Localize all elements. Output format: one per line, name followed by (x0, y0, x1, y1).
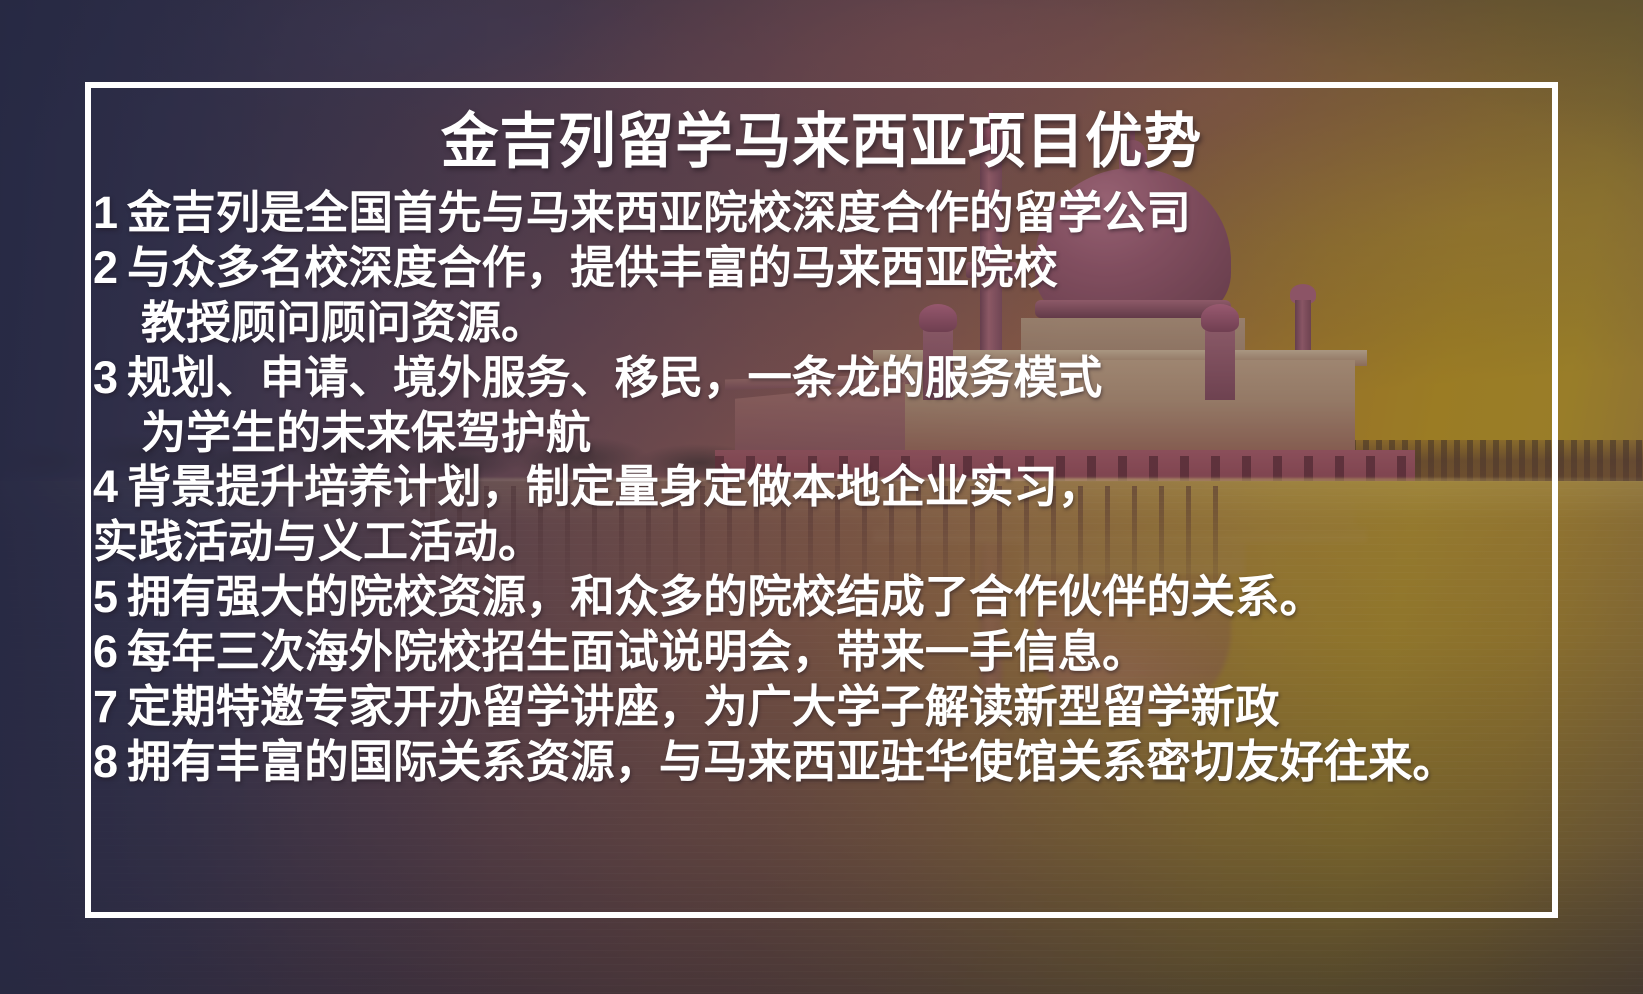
advantage-text: 定期特邀专家开办留学讲座，为广大学子解读新型留学新政 (127, 680, 1279, 735)
list-item: 5拥有强大的院校资源，和众多的院校结成了合作伙伴的关系。 (93, 570, 1550, 625)
advantage-row: 1金吉列是全国首先与马来西亚院校深度合作的留学公司 (93, 186, 1550, 241)
advantage-number: 4 (93, 460, 127, 515)
advantage-number: 5 (93, 570, 127, 625)
advantage-number: 8 (93, 735, 127, 790)
advantage-text: 拥有丰富的国际关系资源，与马来西亚驻华使馆关系密切友好往来。 (127, 735, 1457, 790)
advantage-row: 4背景提升培养计划，制定量身定做本地企业实习， (93, 460, 1550, 515)
advantage-row: 2与众多名校深度合作，提供丰富的马来西亚院校 (93, 241, 1550, 296)
list-item: 7定期特邀专家开办留学讲座，为广大学子解读新型留学新政 (93, 680, 1550, 735)
list-item: 2与众多名校深度合作，提供丰富的马来西亚院校教授顾问顾问资源。 (93, 241, 1550, 351)
advantage-text-continuation: 教授顾问顾问资源。 (93, 296, 1550, 351)
advantage-text-continuation: 为学生的未来保驾护航 (93, 406, 1550, 461)
advantage-text: 每年三次海外院校招生面试说明会，带来一手信息。 (127, 625, 1146, 680)
advantage-row: 8拥有丰富的国际关系资源，与马来西亚驻华使馆关系密切友好往来。 (93, 735, 1550, 790)
advantage-number: 2 (93, 241, 127, 296)
advantage-text: 与众多名校深度合作，提供丰富的马来西亚院校 (127, 241, 1058, 296)
advantage-number: 7 (93, 680, 127, 735)
advantage-row: 5拥有强大的院校资源，和众多的院校结成了合作伙伴的关系。 (93, 570, 1550, 625)
list-item: 4背景提升培养计划，制定量身定做本地企业实习，实践活动与义工活动。 (93, 460, 1550, 570)
advantage-text: 拥有强大的院校资源，和众多的院校结成了合作伙伴的关系。 (127, 570, 1324, 625)
advantage-row: 7定期特邀专家开办留学讲座，为广大学子解读新型留学新政 (93, 680, 1550, 735)
list-item: 3规划、申请、境外服务、移民，一条龙的服务模式为学生的未来保驾护航 (93, 351, 1550, 461)
list-item: 8拥有丰富的国际关系资源，与马来西亚驻华使馆关系密切友好往来。 (93, 735, 1550, 790)
advantage-row: 6每年三次海外院校招生面试说明会，带来一手信息。 (93, 625, 1550, 680)
advantage-row: 3规划、申请、境外服务、移民，一条龙的服务模式 (93, 351, 1550, 406)
advantage-text-continuation: 实践活动与义工活动。 (93, 515, 1550, 570)
list-item: 6每年三次海外院校招生面试说明会，带来一手信息。 (93, 625, 1550, 680)
advantage-text: 背景提升培养计划，制定量身定做本地企业实习， (127, 460, 1102, 515)
poster-content: 金吉列留学马来西亚项目优势 1金吉列是全国首先与马来西亚院校深度合作的留学公司2… (85, 82, 1558, 918)
advantage-number: 6 (93, 625, 127, 680)
page-title: 金吉列留学马来西亚项目优势 (122, 112, 1521, 172)
advantage-text: 规划、申请、境外服务、移民，一条龙的服务模式 (127, 351, 1102, 406)
advantage-number: 3 (93, 351, 127, 406)
list-item: 1金吉列是全国首先与马来西亚院校深度合作的留学公司 (93, 186, 1550, 241)
advantages-list: 1金吉列是全国首先与马来西亚院校深度合作的留学公司2与众多名校深度合作，提供丰富… (93, 186, 1550, 790)
advantage-text: 金吉列是全国首先与马来西亚院校深度合作的留学公司 (127, 186, 1191, 241)
advantage-number: 1 (93, 186, 127, 241)
promo-poster: 金吉列留学马来西亚项目优势 1金吉列是全国首先与马来西亚院校深度合作的留学公司2… (0, 0, 1643, 994)
